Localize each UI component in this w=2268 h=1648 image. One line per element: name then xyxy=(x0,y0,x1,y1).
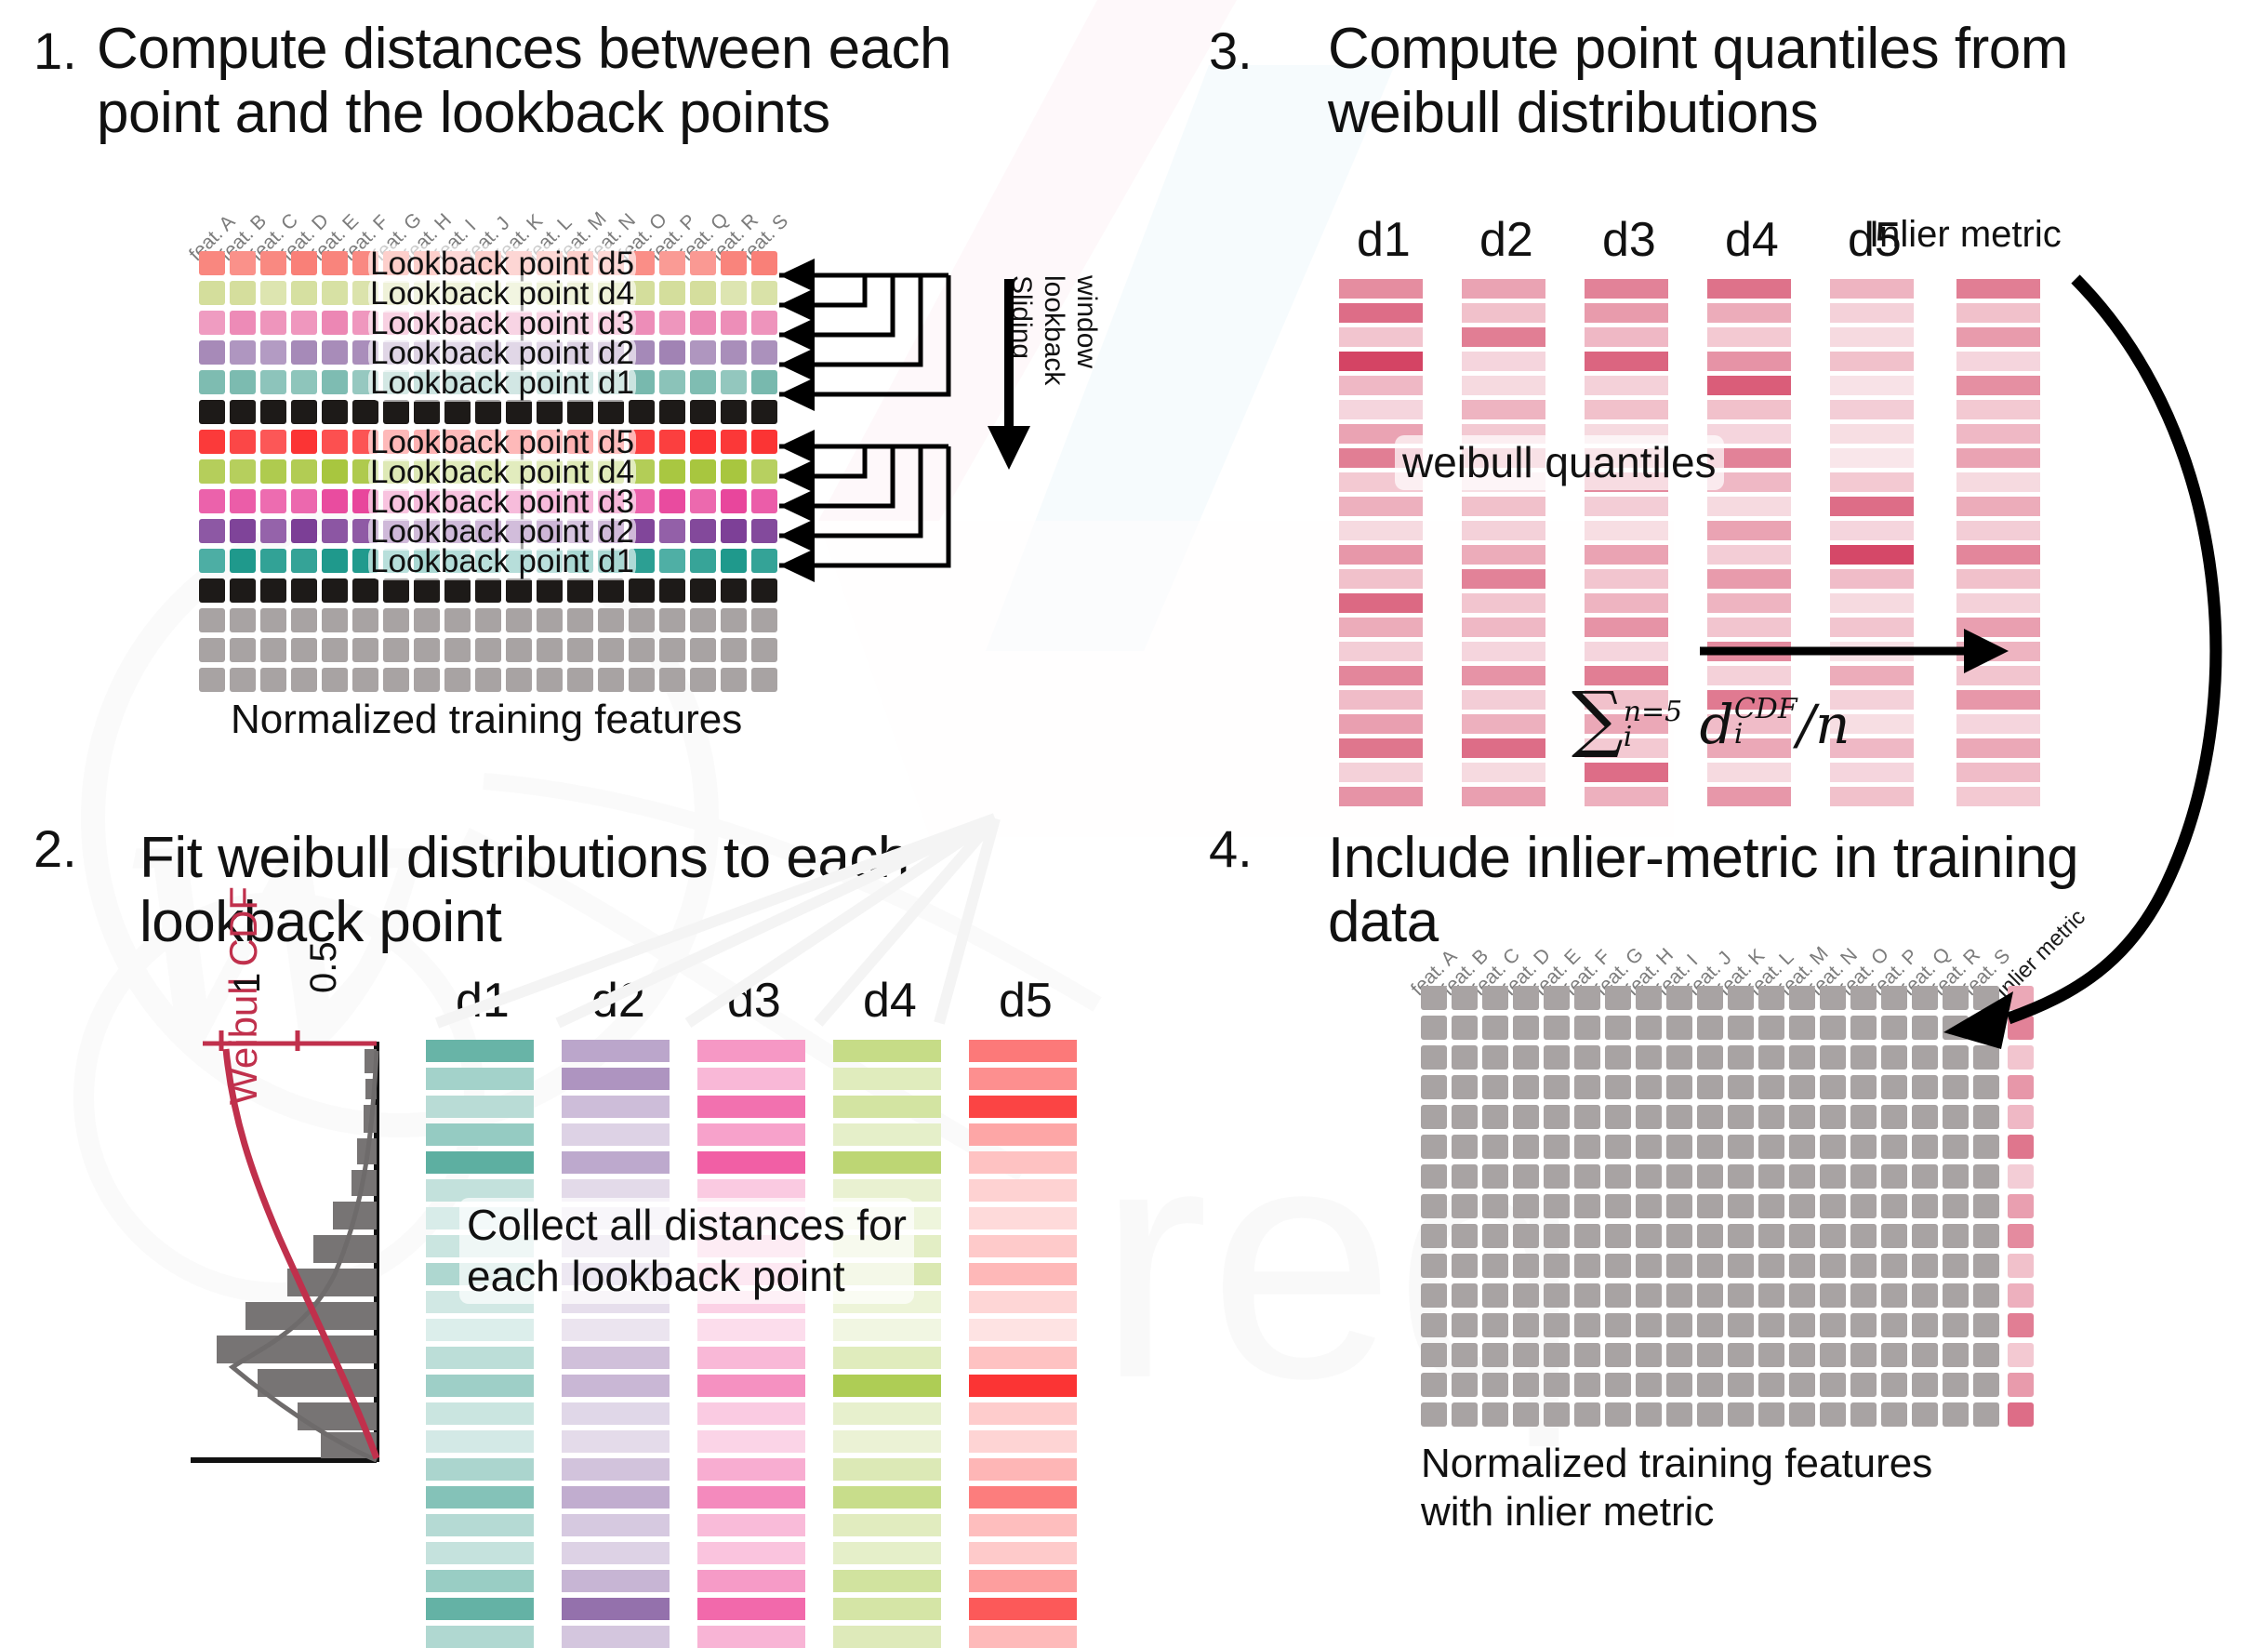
panel2-distance-bar xyxy=(426,1626,534,1648)
figure-canvas: req w 1. Compute distances between each … xyxy=(0,0,2268,1577)
panel2-distance-bar xyxy=(833,1598,941,1620)
panel2-distance-bar xyxy=(969,1626,1077,1648)
panel2-distance-bar xyxy=(562,1626,670,1648)
panel2-distance-bar xyxy=(833,1626,941,1648)
panel2-distance-bar xyxy=(697,1626,805,1648)
panel2-distance-bar xyxy=(426,1598,534,1620)
panel2-distance-bar xyxy=(969,1598,1077,1620)
panel2-distance-bar xyxy=(562,1598,670,1620)
panel2-distance-bar xyxy=(697,1598,805,1620)
inlier-transfer-arrow xyxy=(0,0,2268,1577)
